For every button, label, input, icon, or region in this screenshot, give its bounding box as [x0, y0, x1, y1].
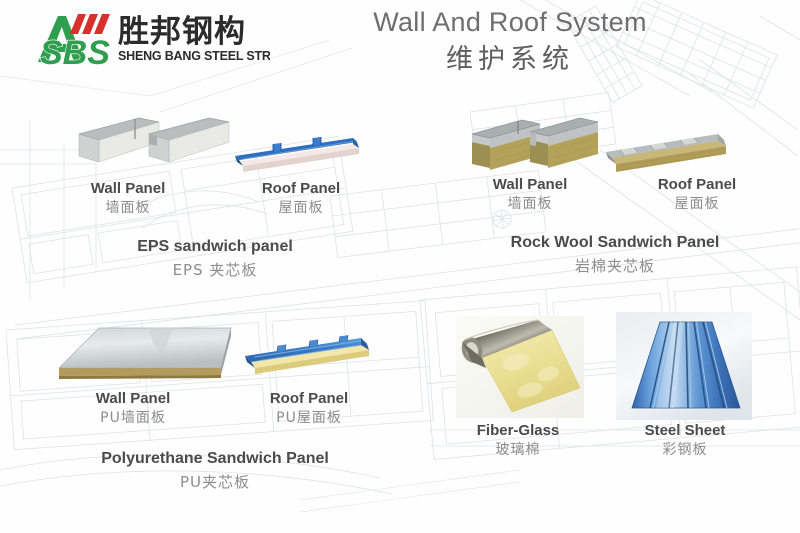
product-label-cn: 彩钢板 — [608, 441, 762, 460]
product-item-rockwool-roof: Roof Panel 屋面板 — [614, 176, 780, 214]
product-item-fiber-glass: Fiber-Glass 玻璃棉 — [442, 422, 594, 460]
product-item-eps-roof: Roof Panel 屋面板 — [217, 180, 385, 218]
company-logo[interactable]: SBS 胜邦钢构 SHENG BANG STEEL STRUCTURE — [8, 4, 270, 70]
group-title-en: Rock Wool Sandwich Panel — [450, 234, 780, 252]
product-item-rockwool-wall: Wall Panel 墙面板 — [450, 176, 610, 214]
product-group-rockwool: Wall Panel 墙面板 Roof Panel 屋面板 Rock Wool … — [450, 108, 780, 186]
group-title-cn: PU夹芯板 — [35, 471, 395, 492]
product-label-cn: PU屋面板 — [227, 409, 391, 428]
eps-roof-panel-image[interactable] — [229, 122, 369, 184]
rock-wool-roof-panel-image[interactable] — [598, 116, 738, 184]
product-item-pu-wall: Wall Panel PU墙面板 — [43, 390, 223, 428]
eps-wall-panel-image[interactable] — [73, 112, 233, 182]
product-label-en: Roof Panel — [227, 390, 391, 409]
svg-text:胜邦钢构: 胜邦钢构 — [118, 14, 246, 50]
group-title-cn: 岩棉夹芯板 — [450, 255, 780, 276]
group-title-en: EPS sandwich panel — [45, 238, 385, 256]
product-label-en: Wall Panel — [450, 176, 610, 195]
fiber-glass-image[interactable] — [456, 316, 584, 418]
page-title: Wall And Roof System 维护系统 — [300, 6, 720, 76]
product-group-title-rockwool: Rock Wool Sandwich Panel 岩棉夹芯板 — [450, 234, 780, 276]
product-label-en: Wall Panel — [43, 390, 223, 409]
product-label-en: Steel Sheet — [608, 422, 762, 441]
header: SBS 胜邦钢构 SHENG BANG STEEL STRUCTURE Wall… — [0, 0, 800, 100]
group-title-en: Polyurethane Sandwich Panel — [35, 450, 395, 468]
product-label-en: Roof Panel — [217, 180, 385, 199]
slide-canvas: SBS 胜邦钢构 SHENG BANG STEEL STRUCTURE Wall… — [0, 0, 800, 533]
product-group-title-eps: EPS sandwich panel EPS 夹芯板 — [45, 238, 385, 280]
product-label-cn: 墙面板 — [45, 199, 211, 218]
product-group-eps: Wall Panel 墙面板 Roof Panel 屋面板 EPS sandwi… — [45, 108, 385, 186]
steel-sheet-image[interactable] — [616, 312, 752, 420]
title-english: Wall And Roof System — [300, 6, 720, 40]
product-label-cn: 屋面板 — [217, 199, 385, 218]
pu-wall-panel-image[interactable] — [53, 320, 239, 386]
product-item-pu-roof: Roof Panel PU屋面板 — [227, 390, 391, 428]
product-item-eps-wall: Wall Panel 墙面板 — [45, 180, 211, 218]
product-label-en: Roof Panel — [614, 176, 780, 195]
product-group-title-pu: Polyurethane Sandwich Panel PU夹芯板 — [35, 450, 395, 492]
product-label-cn: 玻璃棉 — [442, 441, 594, 460]
product-item-steel-sheet: Steel Sheet 彩钢板 — [608, 422, 762, 460]
rock-wool-wall-panel-image[interactable] — [466, 112, 606, 182]
product-label-en: Fiber-Glass — [442, 422, 594, 441]
product-label-cn: 屋面板 — [614, 195, 780, 214]
group-title-cn: EPS 夹芯板 — [45, 259, 385, 280]
svg-text:SHENG BANG STEEL STRUCTURE: SHENG BANG STEEL STRUCTURE — [118, 49, 270, 63]
svg-text:SBS: SBS — [40, 34, 110, 70]
product-group-pu: Wall Panel PU墙面板 Roof Panel PU屋面板 Polyur… — [35, 318, 395, 390]
product-label-cn: 墙面板 — [450, 195, 610, 214]
product-group-materials: Fiber-Glass 玻璃棉 Steel Sheet 彩钢板 — [440, 312, 790, 422]
product-label-cn: PU墙面板 — [43, 409, 223, 428]
product-label-en: Wall Panel — [45, 180, 211, 199]
pu-roof-panel-image[interactable] — [239, 324, 379, 386]
title-chinese: 维护系统 — [300, 44, 720, 76]
